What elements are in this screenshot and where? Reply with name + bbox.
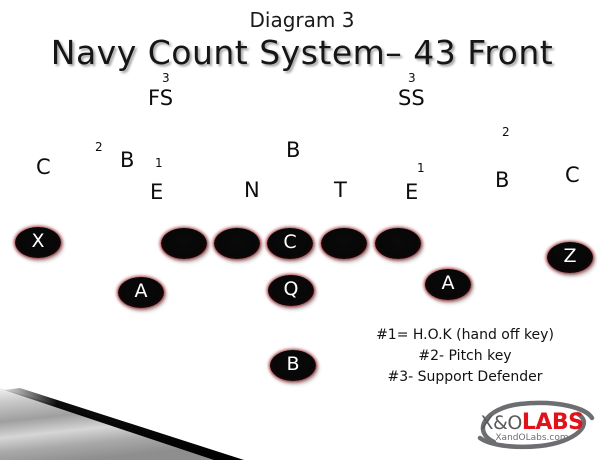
offense-lineman-4[interactable] [321,228,367,259]
logo-labs-text: LABS [522,410,584,435]
legend-line-1: #1= H.O.K (hand off key) [340,327,590,343]
player-label: B [286,355,299,374]
defender-label-b-second_level-1: B [120,150,134,171]
defender-count-2-second_level-1: 2 [95,141,103,153]
offense-player-q[interactable]: Q [268,275,314,306]
offense-lineman-1[interactable] [161,228,207,259]
defender-count-3-deep-1: 3 [408,72,416,84]
defender-label-c-second_level-0: C [36,157,51,178]
defender-label-b-second_level-3: B [495,170,509,191]
offense-player-z[interactable]: Z [547,242,593,273]
logo-xando-text: X&O [481,412,522,434]
wedge-svg [0,380,300,460]
defender-label-b-second_level-2: B [286,140,300,161]
offense-player-a[interactable]: A [425,269,471,300]
defender-count-2-second_level-3: 2 [502,126,510,138]
offense-player-c[interactable]: C [267,228,313,259]
defender-count-1-front-0: 1 [155,157,163,169]
logo-domain-text: XandOLabs.com [466,433,598,443]
defender-count-1-front-3: 1 [417,162,425,174]
offense-lineman-5[interactable] [375,228,421,259]
offense-lineman-2[interactable] [214,228,260,259]
legend-line-2: #2- Pitch key [340,348,590,364]
player-label: X [31,232,44,251]
player-label: A [135,282,148,301]
offense-player-a[interactable]: A [118,277,164,308]
diagram-canvas: Diagram 3 Navy Count System– 43 Front FS… [0,0,604,460]
player-label: Q [284,280,299,299]
page-title: Navy Count System– 43 Front [0,33,604,72]
player-label: A [442,274,455,293]
offense-player-b[interactable]: B [270,350,316,381]
defender-label-t-front-2: T [334,180,347,201]
defender-label-e-front-0: E [150,182,163,203]
player-label: Z [563,247,576,266]
defender-count-3-deep-0: 3 [162,72,170,84]
player-label: C [283,233,296,252]
defender-label-fs-deep-0: FS [148,88,173,109]
defender-label-ss-deep-1: SS [398,88,425,109]
offense-player-x[interactable]: X [15,227,61,258]
diagram-subtitle: Diagram 3 [0,8,604,32]
decorative-wedge [0,380,300,460]
defender-label-c-second_level-4: C [565,165,580,186]
legend-line-3: #3- Support Defender [340,369,590,385]
defender-label-n-front-1: N [244,180,260,201]
defender-label-e-front-3: E [405,182,418,203]
xando-labs-logo[interactable]: X&OLABS XandOLabs.com [466,398,598,456]
logo-wordmark: X&OLABS [466,412,598,434]
